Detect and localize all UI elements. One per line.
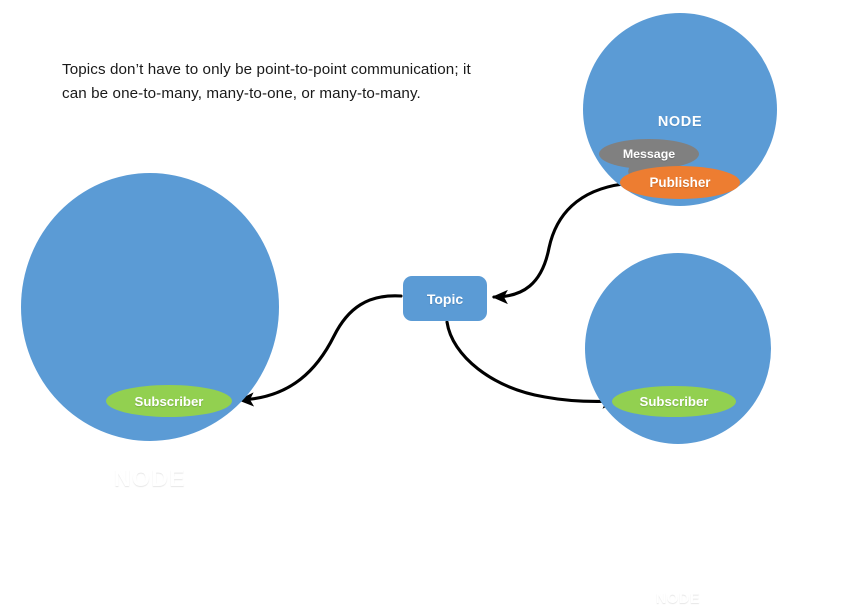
arrow-publisher-to-topic [494,184,623,297]
topic-box[interactable]: Topic [403,276,487,321]
subscriber-left-label: Subscriber [135,394,204,409]
node-bottom-right-label: NODE [585,591,771,607]
subscriber-bottom-right-shape[interactable]: Subscriber [612,386,736,417]
publisher-label: Publisher [649,175,710,190]
node-left-label: NODE [21,465,279,492]
subscriber-left-shape[interactable]: Subscriber [106,385,232,417]
topic-label: Topic [427,291,463,307]
node-top-right-label: NODE [583,114,777,130]
caption-text: Topics don’t have to only be point-to-po… [62,58,482,106]
message-label: Message [623,147,675,161]
subscriber-bottom-right-label: Subscriber [640,394,709,409]
message-shape[interactable]: Message [599,139,699,169]
publisher-shape[interactable]: Publisher [620,166,740,199]
diagram-canvas: Topics don’t have to only be point-to-po… [0,0,854,480]
